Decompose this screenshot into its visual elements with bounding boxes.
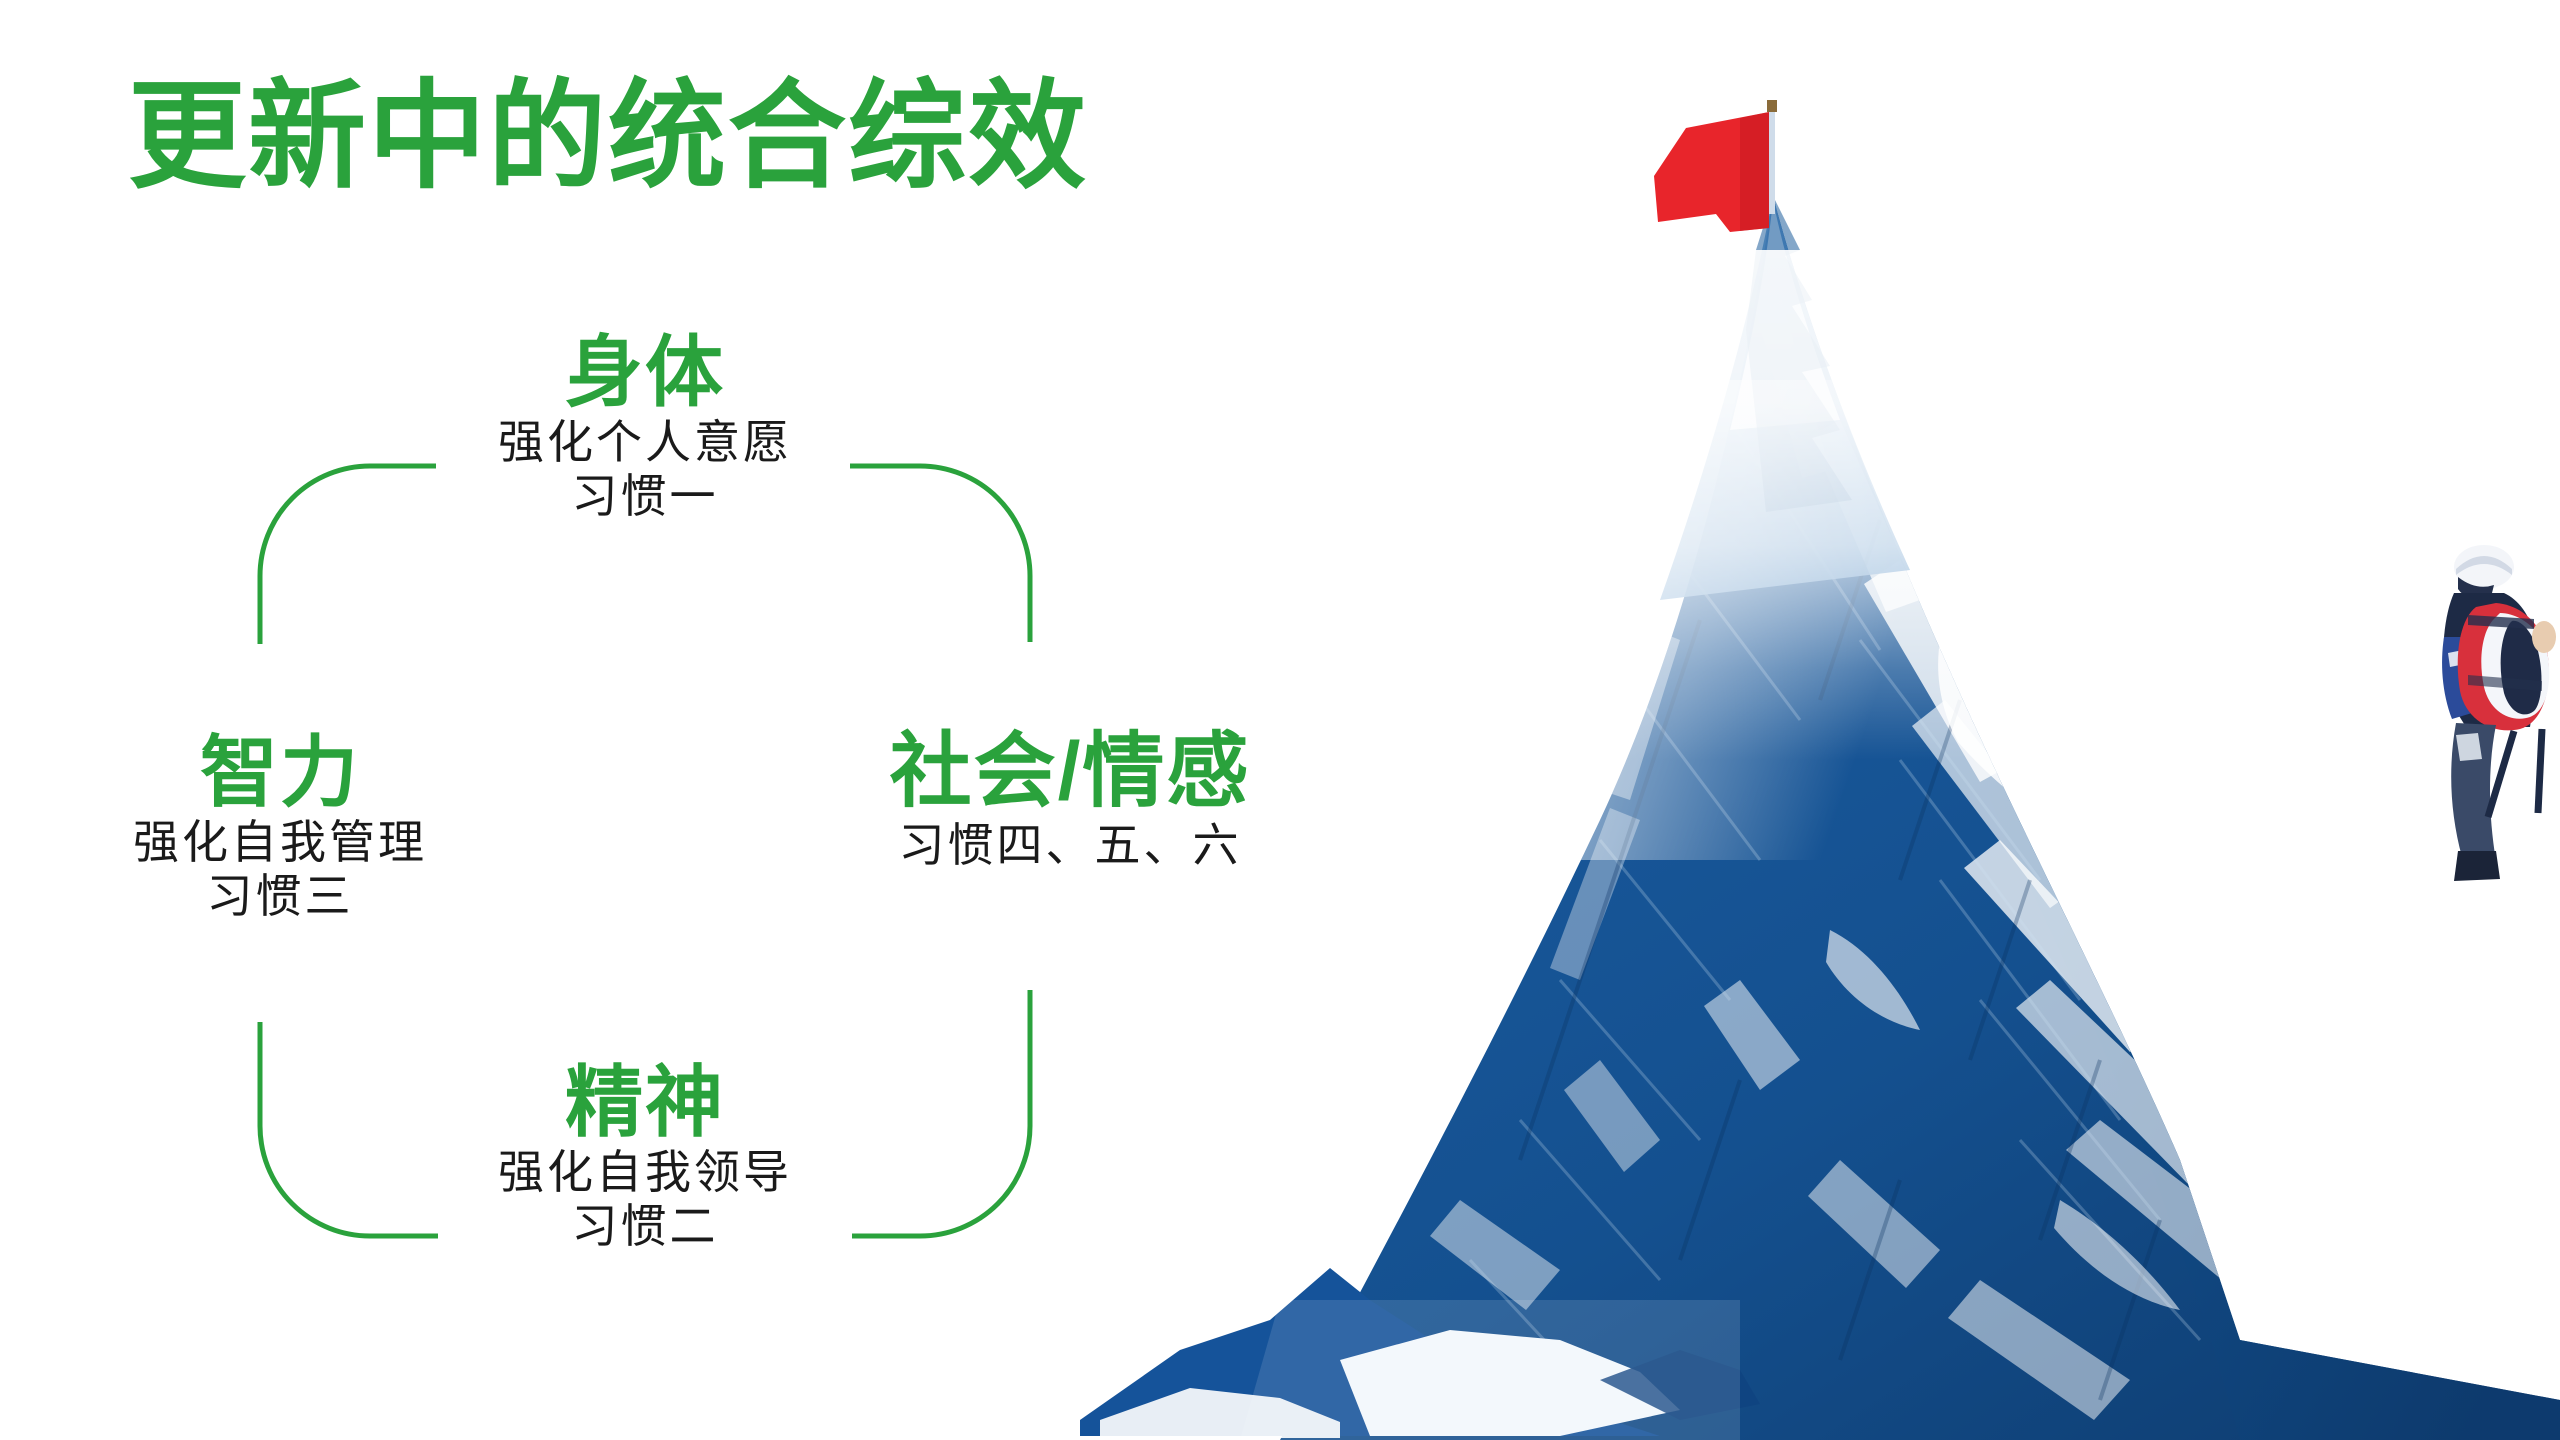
flag-cloth-shade [1740,112,1769,231]
climber-hand [2532,621,2556,653]
dimension-spiritual-line1: 强化自我领导 [300,1148,990,1198]
dimension-spiritual-line2: 习惯二 [300,1202,990,1252]
dimension-spiritual-heading: 精神 [300,1060,990,1144]
climber-pants-stripe [2456,733,2482,761]
dimension-spiritual: 精神 强化自我领导 习惯二 [300,1060,990,1252]
dimension-physical: 身体 强化个人意愿 习惯一 [300,330,990,522]
slide-canvas: 更新中的统合综效 身体 强化个人意愿 习惯一 智力 强化自我管理 习惯三 社会/… [0,0,2560,1440]
summit-mist-left [1510,380,1920,860]
mountain-illustration [1040,0,2560,1440]
page-title: 更新中的统合综效 [128,78,1088,196]
base-haze [1240,1300,1740,1440]
climber-figure [2442,545,2556,881]
climber-boots [2454,851,2500,881]
dimension-mental-heading: 智力 [20,730,540,814]
summit-flag [1654,100,1777,232]
flag-pole [1769,106,1775,214]
dimension-physical-heading: 身体 [300,330,990,414]
dimension-mental: 智力 强化自我管理 习惯三 [20,730,540,922]
dimension-physical-line1: 强化个人意愿 [300,418,990,468]
dimension-mental-line2: 习惯三 [20,872,540,922]
dimension-physical-line2: 习惯一 [300,472,990,522]
flag-pole-tip [1767,100,1777,112]
climber-pole-right [2538,729,2542,813]
dimension-mental-line1: 强化自我管理 [20,818,540,868]
